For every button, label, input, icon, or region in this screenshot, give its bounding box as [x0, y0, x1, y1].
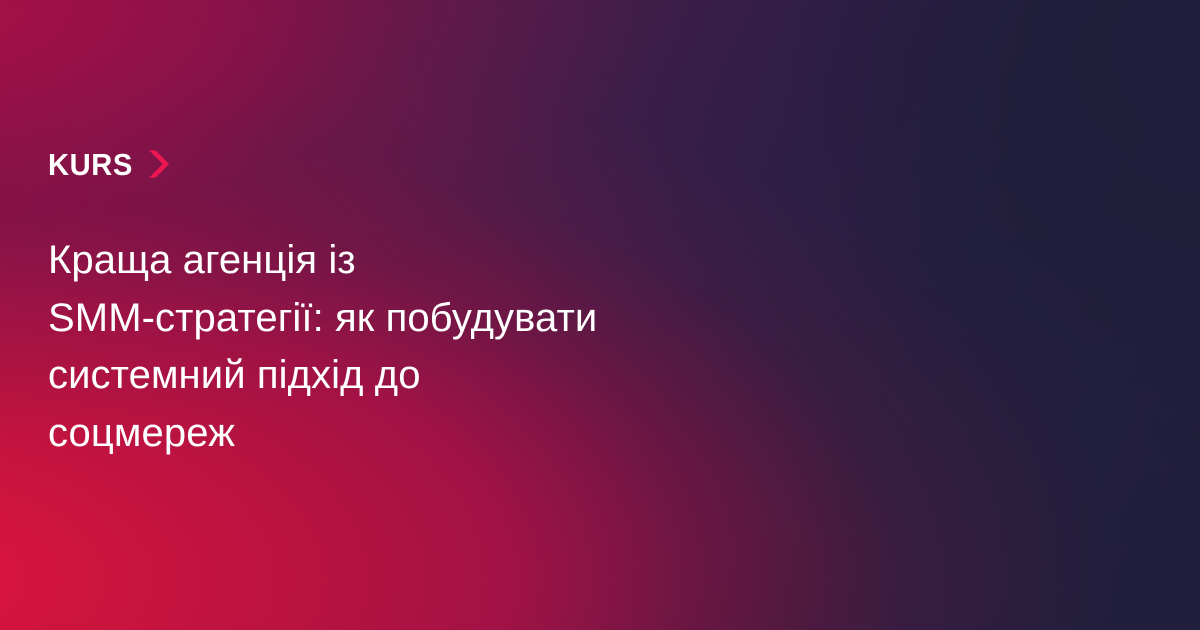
chevron-right-icon — [147, 149, 173, 179]
card-content: KURS Краща агенція із SMM-стратегії: як … — [48, 0, 808, 630]
page-title-line-1: Краща агенція із — [48, 232, 768, 290]
page-title-line-4: соцмереж — [48, 405, 768, 463]
page-title-line-3: системний підхід до — [48, 347, 768, 405]
brand-wordmark: KURS — [48, 149, 133, 180]
brand-logo[interactable]: KURS — [48, 147, 173, 181]
page-title-line-2: SMM-стратегії: як побудувати — [48, 290, 768, 348]
page-title: Краща агенція із SMM-стратегії: як побуд… — [48, 232, 768, 462]
social-share-card: KURS Краща агенція із SMM-стратегії: як … — [0, 0, 1200, 630]
